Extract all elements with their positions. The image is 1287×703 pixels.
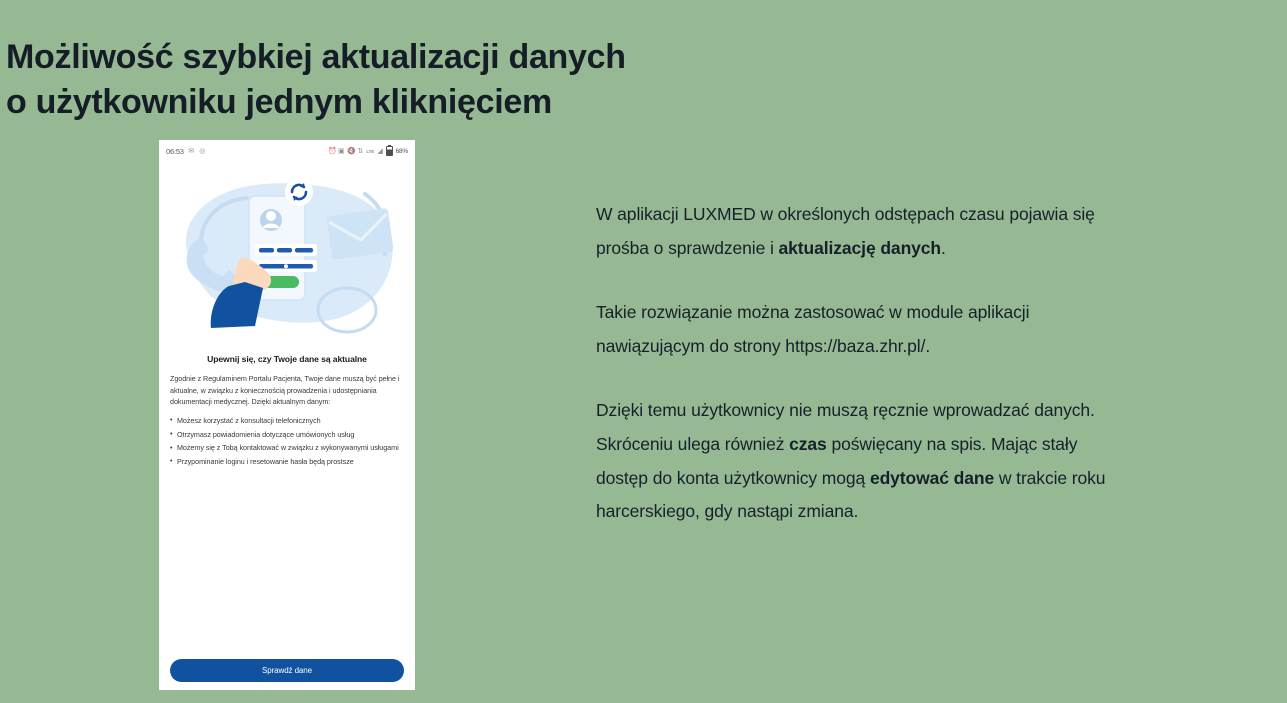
emphasis-text: edytować dane [870,468,994,488]
status-clock: 06:53 [166,147,184,156]
signal-bars-icon: ◢ [377,148,384,155]
body-text: . [941,238,946,258]
check-data-button[interactable]: Sprawdź dane [170,659,404,682]
copy-paragraph: W aplikacji LUXMED w określonych odstępa… [596,198,1130,265]
envelope-icon [326,208,394,260]
data-saver-icon: ⇅ [357,148,364,155]
battery-icon [386,146,393,156]
phone-mockup-card: 06:53 ✉ ◎ ⏰ ▣ 🔇 ⇅ LTE ◢ 68% [159,140,415,690]
network-type-label: LTE [366,148,374,155]
sd-card-icon: ▣ [338,148,345,155]
list-item: Możemy się z Tobą kontaktować w związku … [170,442,404,454]
alarm-icon: ⏰ [328,148,335,155]
profile-data-sync-illustration [159,162,415,348]
sync-arrows-icon [285,178,313,206]
list-item: Przypominanie loginu i resetowanie hasła… [170,456,404,468]
battery-level-label: 68% [396,148,408,155]
instagram-icon: ◎ [199,148,206,155]
phone-status-bar: 06:53 ✉ ◎ ⏰ ▣ 🔇 ⇅ LTE ◢ 68% [159,140,415,162]
user-avatar-icon [260,209,282,231]
body-text: Takie rozwiązanie można zastosować w mod… [596,302,1029,356]
mute-icon: 🔇 [347,148,354,155]
cta-container: Sprawdź dane [159,659,415,682]
emphasis-text: czas [789,434,827,454]
page-title: Możliwość szybkiej aktualizacji danych o… [6,35,906,125]
mail-filled-icon: ✉ [188,148,195,155]
phone-benefits-list: Możesz korzystać z konsultacji telefonic… [170,415,404,468]
copy-column: W aplikacji LUXMED w określonych odstępa… [596,198,1130,529]
emphasis-text: aktualizację danych [779,238,941,258]
copy-paragraph: Dzięki temu użytkownicy nie muszą ręczni… [596,394,1130,528]
list-item: Otrzymasz powiadomienia dotyczące umówio… [170,429,404,441]
copy-paragraph: Takie rozwiązanie można zastosować w mod… [596,296,1130,363]
phone-heading: Upewnij się, czy Twoje dane są aktualne [170,354,404,364]
list-item: Możesz korzystać z konsultacji telefonic… [170,415,404,427]
phone-paragraph: Zgodnie z Regulaminem Portalu Pacjenta, … [170,373,404,408]
phone-content: Upewnij się, czy Twoje dane są aktualne … [159,354,415,468]
status-bar-left: 06:53 ✉ ◎ [166,147,206,156]
status-bar-right: ⏰ ▣ 🔇 ⇅ LTE ◢ 68% [328,146,408,156]
